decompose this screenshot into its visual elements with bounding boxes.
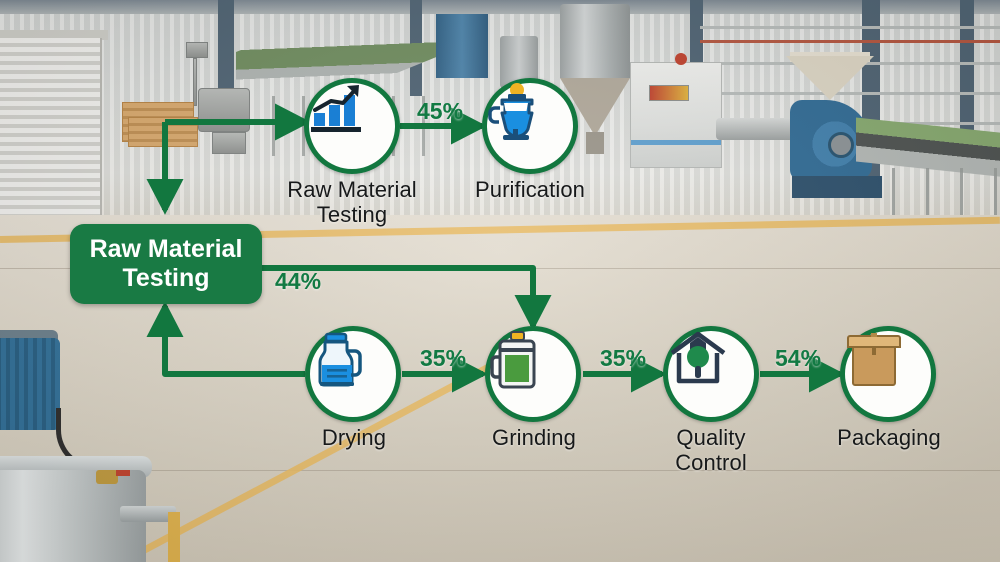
grinding-container-icon: [490, 331, 544, 389]
grinding-label: Grinding: [482, 426, 586, 451]
cardboard-box-icon: [845, 331, 903, 387]
raw-material-testing-circle[interactable]: [304, 78, 400, 174]
diagram-canvas: Raw Material Testing Raw Material Testin…: [0, 0, 1000, 562]
drying-label: Drying: [306, 426, 402, 451]
line-return-to-box: [165, 306, 305, 374]
percent-grinding-to-quality: 35%: [600, 345, 646, 372]
quality-control-label: Quality Control: [650, 426, 772, 476]
purification-vessel-icon: [487, 83, 541, 143]
packaging-label: Packaging: [833, 426, 945, 451]
drying-circle[interactable]: [305, 326, 401, 422]
purification-circle[interactable]: [482, 78, 578, 174]
percent-raw-to-purification: 45%: [417, 98, 463, 125]
quality-control-circle[interactable]: [663, 326, 759, 422]
flow-overlay: Raw Material Testing Raw Material Testin…: [0, 0, 1000, 562]
packaging-circle[interactable]: [840, 326, 936, 422]
raw-material-testing-box[interactable]: Raw Material Testing: [70, 224, 262, 304]
raw-material-testing-box-label: Raw Material Testing: [90, 235, 243, 293]
percent-box-to-grinding: 44%: [275, 268, 321, 295]
percent-drying-to-grinding: 35%: [420, 345, 466, 372]
grinding-circle[interactable]: [485, 326, 581, 422]
percent-quality-to-packaging: 54%: [775, 345, 821, 372]
bar-chart-growth-icon: [309, 83, 365, 135]
drying-flask-icon: [310, 331, 366, 387]
house-magnifier-icon: [668, 331, 728, 385]
raw-material-testing-label: Raw Material Testing: [272, 178, 432, 228]
purification-label: Purification: [463, 178, 597, 203]
